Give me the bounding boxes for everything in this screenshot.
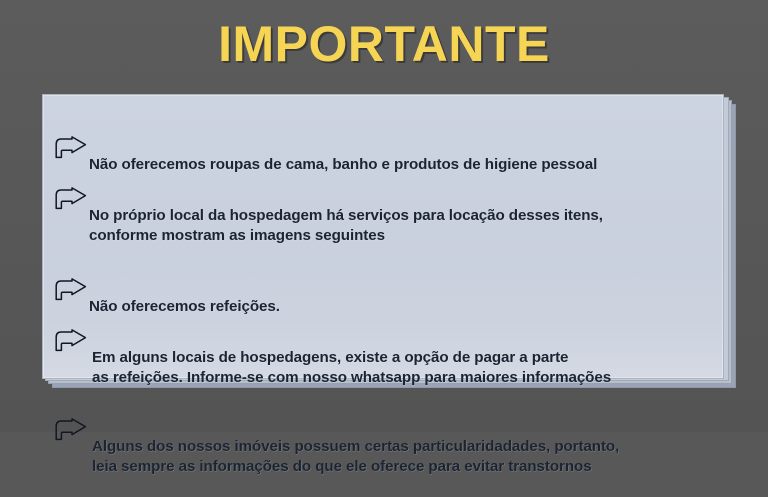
list-item: No próprio local da hospedagem há serviç… [53,186,709,266]
list-item-label: Em alguns locais de hospedagens, existe … [89,328,709,408]
list-item-line-1: No próprio local da hospedagem há serviç… [89,207,603,224]
slide-canvas: IMPORTANTE Não oferecemos roupas de cama… [0,0,768,432]
list-item-line-2: as refeições. Informe-se com nosso whats… [92,368,709,388]
block-arrow-right-icon [53,278,87,302]
list-item-line-1: Em alguns locais de hospedagens, existe … [92,349,568,366]
bullet-list: Não oferecemos roupas de cama, banho e p… [53,135,709,497]
list-item-label: Não oferecemos roupas de cama, banho e p… [89,135,709,175]
list-item: Não oferecemos roupas de cama, banho e p… [53,135,709,175]
content-panel: Não oferecemos roupas de cama, banho e p… [42,94,724,379]
block-arrow-right-icon [53,418,87,442]
list-item-line-1: Não oferecemos roupas de cama, banho e p… [89,156,597,173]
title-container: IMPORTANTE [0,17,768,71]
block-arrow-right-icon [53,136,87,160]
content-panel-inner: Não oferecemos roupas de cama, banho e p… [43,95,723,378]
list-item-label: Não oferecemos refeições. [89,277,709,317]
list-item-line-1: Alguns dos nossos imóveis possuem certas… [92,438,619,455]
list-item: Não oferecemos refeições. [53,277,709,317]
list-item-line-2: conforme mostram as imagens seguintes [89,226,709,246]
list-item-line-2: leia sempre as informações do que ele of… [92,457,709,477]
list-item-line-1: Não oferecemos refeições. [89,298,280,315]
list-item-label: No próprio local da hospedagem há serviç… [89,186,709,266]
block-arrow-right-icon [53,329,87,353]
list-item: Em alguns locais de hospedagens, existe … [53,328,709,408]
block-arrow-right-icon [53,187,87,211]
list-item: Alguns dos nossos imóveis possuem certas… [53,417,709,497]
page-title: IMPORTANTE [218,17,550,71]
list-item-label: Alguns dos nossos imóveis possuem certas… [89,417,709,497]
